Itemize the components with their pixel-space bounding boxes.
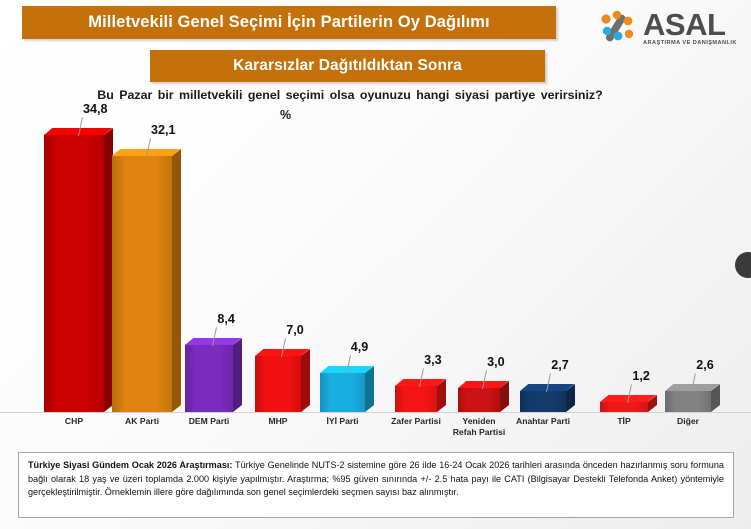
bar-side-face bbox=[172, 149, 181, 412]
bar-front-face bbox=[185, 345, 233, 412]
category-label-6: Zafer Partisi bbox=[381, 416, 451, 427]
category-label-3: DEM Parti bbox=[171, 416, 247, 427]
bar-value-label: 2,6 bbox=[696, 358, 714, 372]
bar-value-label: 3,3 bbox=[424, 353, 442, 367]
logo-wordmark: ASAL bbox=[643, 9, 737, 40]
bar-side-face bbox=[301, 349, 310, 412]
category-label-4: MHP bbox=[241, 416, 315, 427]
bar-front-face bbox=[112, 156, 172, 412]
bar-side-face bbox=[233, 338, 242, 412]
bar-front-face bbox=[520, 391, 566, 412]
logo-mark-icon bbox=[599, 9, 641, 47]
bar-value-label: 4,9 bbox=[351, 340, 369, 354]
bar-6 bbox=[395, 118, 437, 413]
title-banner: Milletvekili Genel Seçimi İçin Partileri… bbox=[22, 6, 556, 39]
bar-front-face bbox=[395, 386, 437, 412]
bar-front-face bbox=[320, 373, 365, 412]
bar-value-label: 34,8 bbox=[83, 102, 108, 116]
bar-value-label: 7,0 bbox=[286, 323, 304, 337]
survey-question: Bu Pazar bir milletvekili genel seçimi o… bbox=[0, 88, 700, 102]
asal-logo: ASAL ARAŞTIRMA VE DANIŞMANLIK bbox=[599, 4, 743, 52]
bar-5 bbox=[320, 118, 365, 413]
bar-front-face bbox=[665, 391, 711, 412]
bar-front-face bbox=[600, 402, 648, 412]
subtitle-banner: Kararsızlar Dağıtıldıktan Sonra bbox=[150, 50, 545, 82]
logo-tagline: ARAŞTIRMA VE DANIŞMANLIK bbox=[643, 41, 737, 47]
poll-chart-slide: Milletvekili Genel Seçimi İçin Partileri… bbox=[0, 0, 751, 529]
bar-value-label: 2,7 bbox=[551, 358, 569, 372]
methodology-lead: Türkiye Siyasi Gündem Ocak 2026 Araştırm… bbox=[28, 460, 232, 470]
bar-front-face bbox=[458, 388, 500, 412]
category-label-7: Yeniden Refah Partisi bbox=[444, 416, 514, 438]
bar-value-label: 1,2 bbox=[632, 369, 650, 383]
category-label-5: İYİ Parti bbox=[306, 416, 379, 427]
bar-front-face bbox=[44, 135, 104, 412]
bar-value-label: 32,1 bbox=[151, 123, 176, 137]
bar-4 bbox=[255, 118, 301, 413]
bar-side-face bbox=[365, 366, 374, 412]
bar-2 bbox=[112, 118, 172, 413]
category-label-10: Diğer bbox=[651, 416, 725, 427]
bar-3 bbox=[185, 118, 233, 413]
bar-1 bbox=[44, 118, 104, 413]
bar-value-label: 8,4 bbox=[217, 312, 235, 326]
methodology-note: Türkiye Siyasi Gündem Ocak 2026 Araştırm… bbox=[18, 452, 734, 518]
chart-baseline bbox=[0, 412, 751, 413]
bar-front-face bbox=[255, 356, 301, 412]
category-label-8: Anahtar Parti bbox=[506, 416, 580, 427]
bar-value-label: 3,0 bbox=[487, 355, 505, 369]
